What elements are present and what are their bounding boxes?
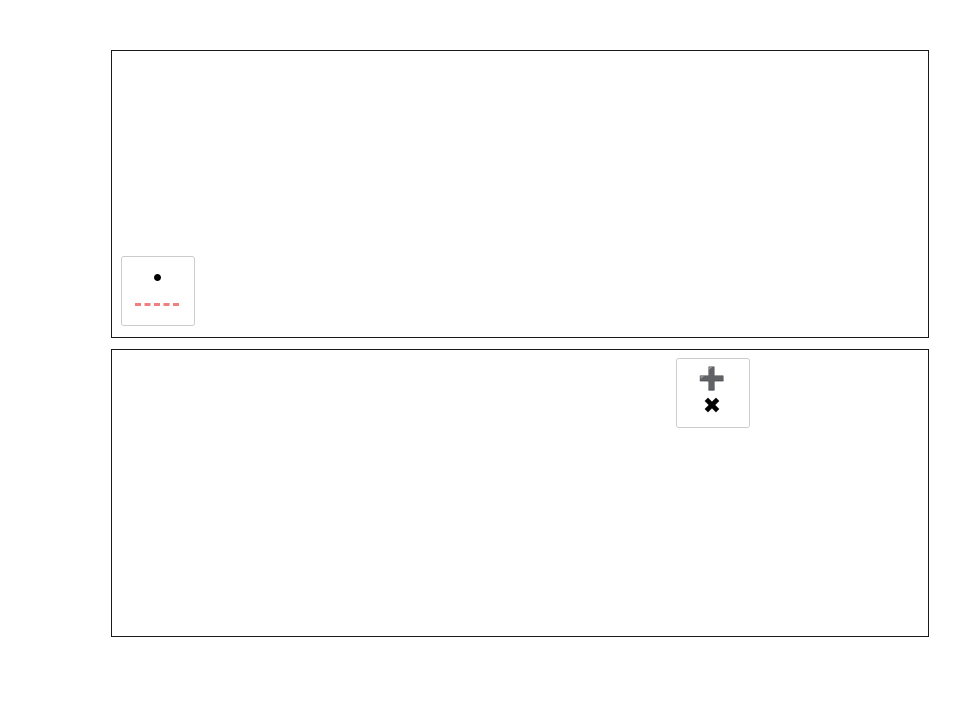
legend-item-predicted-stars[interactable]: ✖ bbox=[686, 393, 738, 420]
top-panel-axes bbox=[111, 50, 929, 338]
bottom-panel-plot-area bbox=[112, 350, 928, 636]
legend-item-threshold[interactable] bbox=[131, 291, 183, 318]
plus-marker-icon: ➕ bbox=[686, 369, 738, 391]
legend-item-matched-stars[interactable]: ➕ bbox=[686, 366, 738, 393]
legend-item-measurements[interactable] bbox=[131, 264, 183, 291]
top-panel-legend bbox=[121, 256, 195, 326]
cross-marker-icon: ✖ bbox=[686, 396, 738, 418]
dot-marker-icon bbox=[131, 274, 183, 281]
bottom-panel-axes bbox=[111, 349, 929, 637]
bottom-panel-legend: ➕ ✖ bbox=[676, 358, 750, 428]
dashed-line-marker-icon bbox=[131, 303, 183, 306]
top-panel-plot-area bbox=[112, 51, 928, 337]
figure-container: ➕ ✖ bbox=[0, 0, 960, 720]
